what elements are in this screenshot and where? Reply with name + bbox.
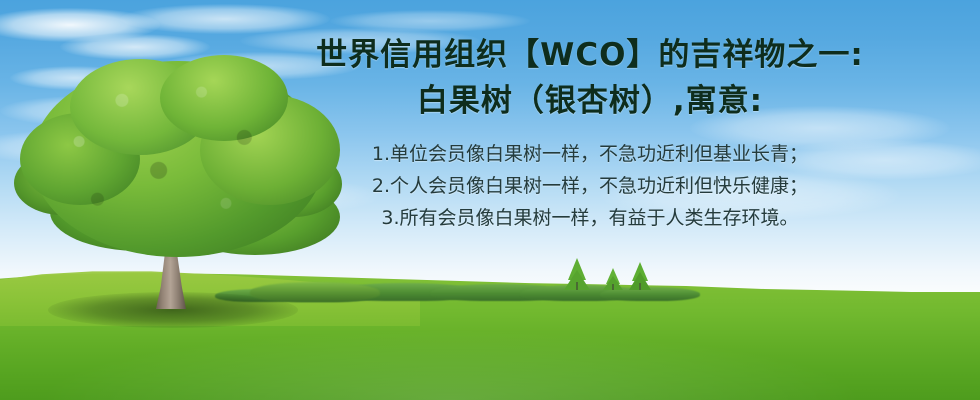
banner-meaning-list: 1.单位会员像白果树一样，不急功近利但基业长青； 2.个人会员像白果树一样，不急…: [250, 138, 930, 234]
banner-title-line-1: 世界信用组织【WCO】的吉祥物之一:: [250, 36, 930, 76]
meaning-item-1: 1.单位会员像白果树一样，不急功近利但基业长青；: [250, 138, 930, 170]
banner-text-layer: 世界信用组织【WCO】的吉祥物之一: 白果树（银杏树）,寓意: 1.单位会员像白…: [0, 0, 980, 400]
meaning-item-2: 2.个人会员像白果树一样，不急功近利但快乐健康；: [250, 170, 930, 202]
banner-title-line-2: 白果树（银杏树）,寓意:: [250, 82, 930, 122]
wco-mascot-banner: 世界信用组织【WCO】的吉祥物之一: 白果树（银杏树）,寓意: 1.单位会员像白…: [0, 0, 980, 400]
meaning-item-3: 3.所有会员像白果树一样，有益于人类生存环境。: [250, 202, 930, 234]
